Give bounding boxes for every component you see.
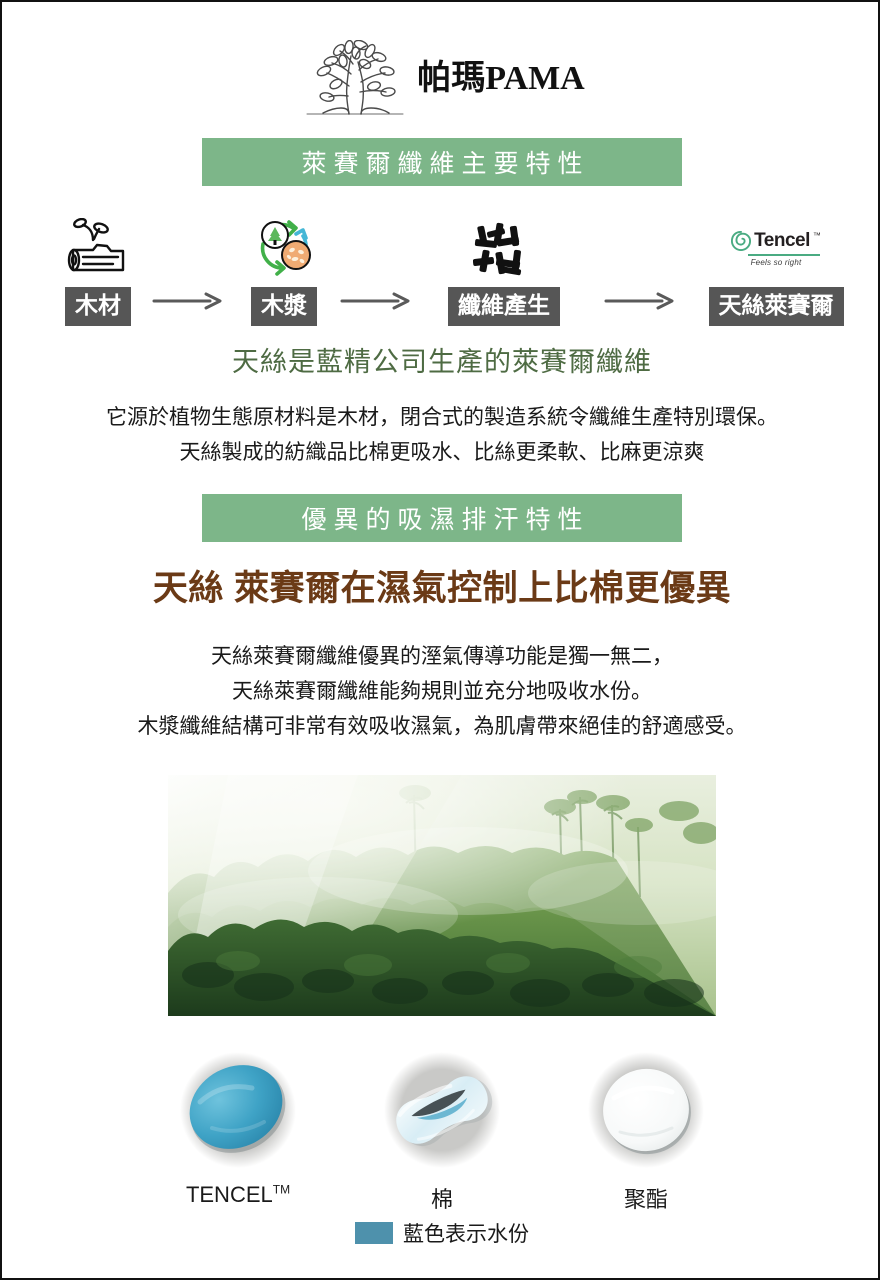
brand-header: 帕瑪PAMA <box>2 40 880 122</box>
headline-moisture-control: 天絲 萊賽爾在濕氣控制上比棉更優異 <box>2 560 880 611</box>
tencel-wordmark-row: Tencel ™ <box>731 231 821 251</box>
paragraph-2-line-1: 天絲萊賽爾纖維優異的溼氣傳導功能是獨一無二， <box>2 639 880 674</box>
banner-2-text: 優異的吸濕排汗特性 <box>294 500 589 536</box>
flow-label-tencel: 天絲萊賽爾 <box>709 287 844 326</box>
flow-label-fiber: 纖維產生 <box>448 287 560 326</box>
tencel-fiber-cross-section <box>168 1040 308 1180</box>
fiber-label-tencel: TENCELTM <box>168 1182 308 1214</box>
fiber-label-cotton: 棉 <box>372 1182 512 1214</box>
cotton-fiber-cross-section <box>372 1040 512 1180</box>
section-banner-moisture-management: 優異的吸濕排汗特性 <box>202 494 682 542</box>
paragraph-2-line-2: 天絲萊賽爾纖維能夠規則並充分地吸收水份。 <box>2 674 880 709</box>
flow-arrow-1 <box>152 290 224 312</box>
fiber-cross-section-row <box>168 1040 716 1180</box>
flow-step-pulp: 木漿 <box>237 206 331 326</box>
paragraph-moisture: 天絲萊賽爾纖維優異的溼氣傳導功能是獨一無二， 天絲萊賽爾纖維能夠規則並充分地吸收… <box>2 639 880 744</box>
tree-line-art-icon <box>299 40 411 122</box>
production-flow-diagram: 木材 <box>2 206 880 326</box>
recycling-tree-pulp-icon <box>251 217 317 281</box>
paragraph-1-line-1: 它源於植物生態原材料是木材，閉合式的製造系統令纖維生產特別環保。 <box>2 400 880 435</box>
infographic-page: 帕瑪PAMA 萊賽爾纖維主要特性 <box>0 0 880 1280</box>
flow-arrow-2 <box>340 290 412 312</box>
flow-step-tencel: Tencel ™ Feels so right 天絲萊賽爾 <box>702 206 850 326</box>
flow-arrow-3 <box>604 290 676 312</box>
tencel-tagline: Feels so right <box>751 259 802 267</box>
tencel-trademark-symbol: ™ <box>813 232 821 240</box>
fiber-label-polyester: 聚酯 <box>576 1182 716 1214</box>
green-subtitle: 天絲是藍精公司生產的萊賽爾纖維 <box>2 340 880 379</box>
fiber-label-row: TENCELTM 棉 聚酯 <box>168 1182 716 1214</box>
brand-name: 帕瑪PAMA <box>417 62 584 100</box>
legend-label: 藍色表示水份 <box>403 1218 529 1248</box>
flow-step-wood: 木材 <box>50 206 146 326</box>
fiber-label-tencel-text: TENCEL <box>186 1182 273 1207</box>
polyester-fiber-cross-section <box>576 1040 716 1180</box>
tencel-logo-lockup: Tencel ™ Feels so right <box>731 231 821 267</box>
legend-color-swatch <box>355 1222 393 1244</box>
paragraph-origin: 它源於植物生態原材料是木材，閉合式的製造系統令纖維生產特別環保。 天絲製成的紡織… <box>2 400 880 470</box>
tencel-wordmark: Tencel <box>754 231 810 250</box>
moisture-legend: 藍色表示水份 <box>2 1218 880 1248</box>
tencel-spiral-leaf-icon <box>731 231 751 251</box>
banner-1-text: 萊賽爾纖維主要特性 <box>294 144 589 180</box>
forest-photo <box>168 775 716 1016</box>
flow-step-fiber: 纖維產生 <box>430 206 578 326</box>
paragraph-1-line-2: 天絲製成的紡織品比棉更吸水、比絲更柔軟、比麻更涼爽 <box>2 435 880 470</box>
wood-log-icon <box>63 217 133 281</box>
flow-label-wood: 木材 <box>65 287 131 326</box>
tencel-logo-icon: Tencel ™ Feels so right <box>731 217 821 281</box>
fiber-label-tencel-tm: TM <box>273 1183 290 1197</box>
tencel-underline-rule <box>748 254 820 256</box>
woven-fiber-icon <box>473 217 535 281</box>
section-banner-fiber-characteristics: 萊賽爾纖維主要特性 <box>202 138 682 186</box>
flow-label-pulp: 木漿 <box>251 287 317 326</box>
paragraph-2-line-3: 木漿纖維結構可非常有效吸收濕氣，為肌膚帶來絕佳的舒適感受。 <box>2 709 880 744</box>
